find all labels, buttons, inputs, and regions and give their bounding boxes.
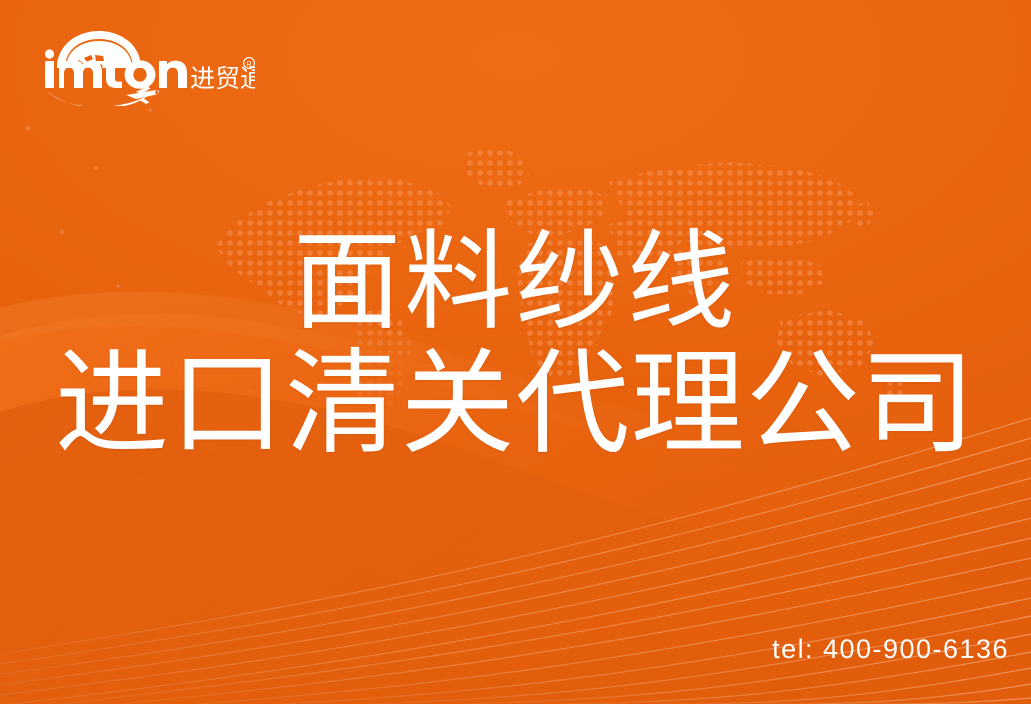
promo-banner: 进贸通 R 面料纱线 进口清关代理公司 tel: 400-900-6136: [0, 0, 1031, 704]
headline-line-1: 面料纱线: [0, 228, 1031, 336]
plane-swoosh-icon: [47, 87, 159, 106]
page-title: 面料纱线 进口清关代理公司: [0, 228, 1031, 462]
company-logo[interactable]: 进贸通 R: [40, 28, 255, 106]
logo-chinese-name: 进贸通: [190, 64, 255, 93]
contact-phone[interactable]: tel: 400-900-6136: [772, 634, 1009, 665]
headline-line-2: 进口清关代理公司: [0, 348, 1031, 462]
svg-text:R: R: [246, 61, 251, 68]
registered-trademark-icon: R: [244, 58, 255, 69]
